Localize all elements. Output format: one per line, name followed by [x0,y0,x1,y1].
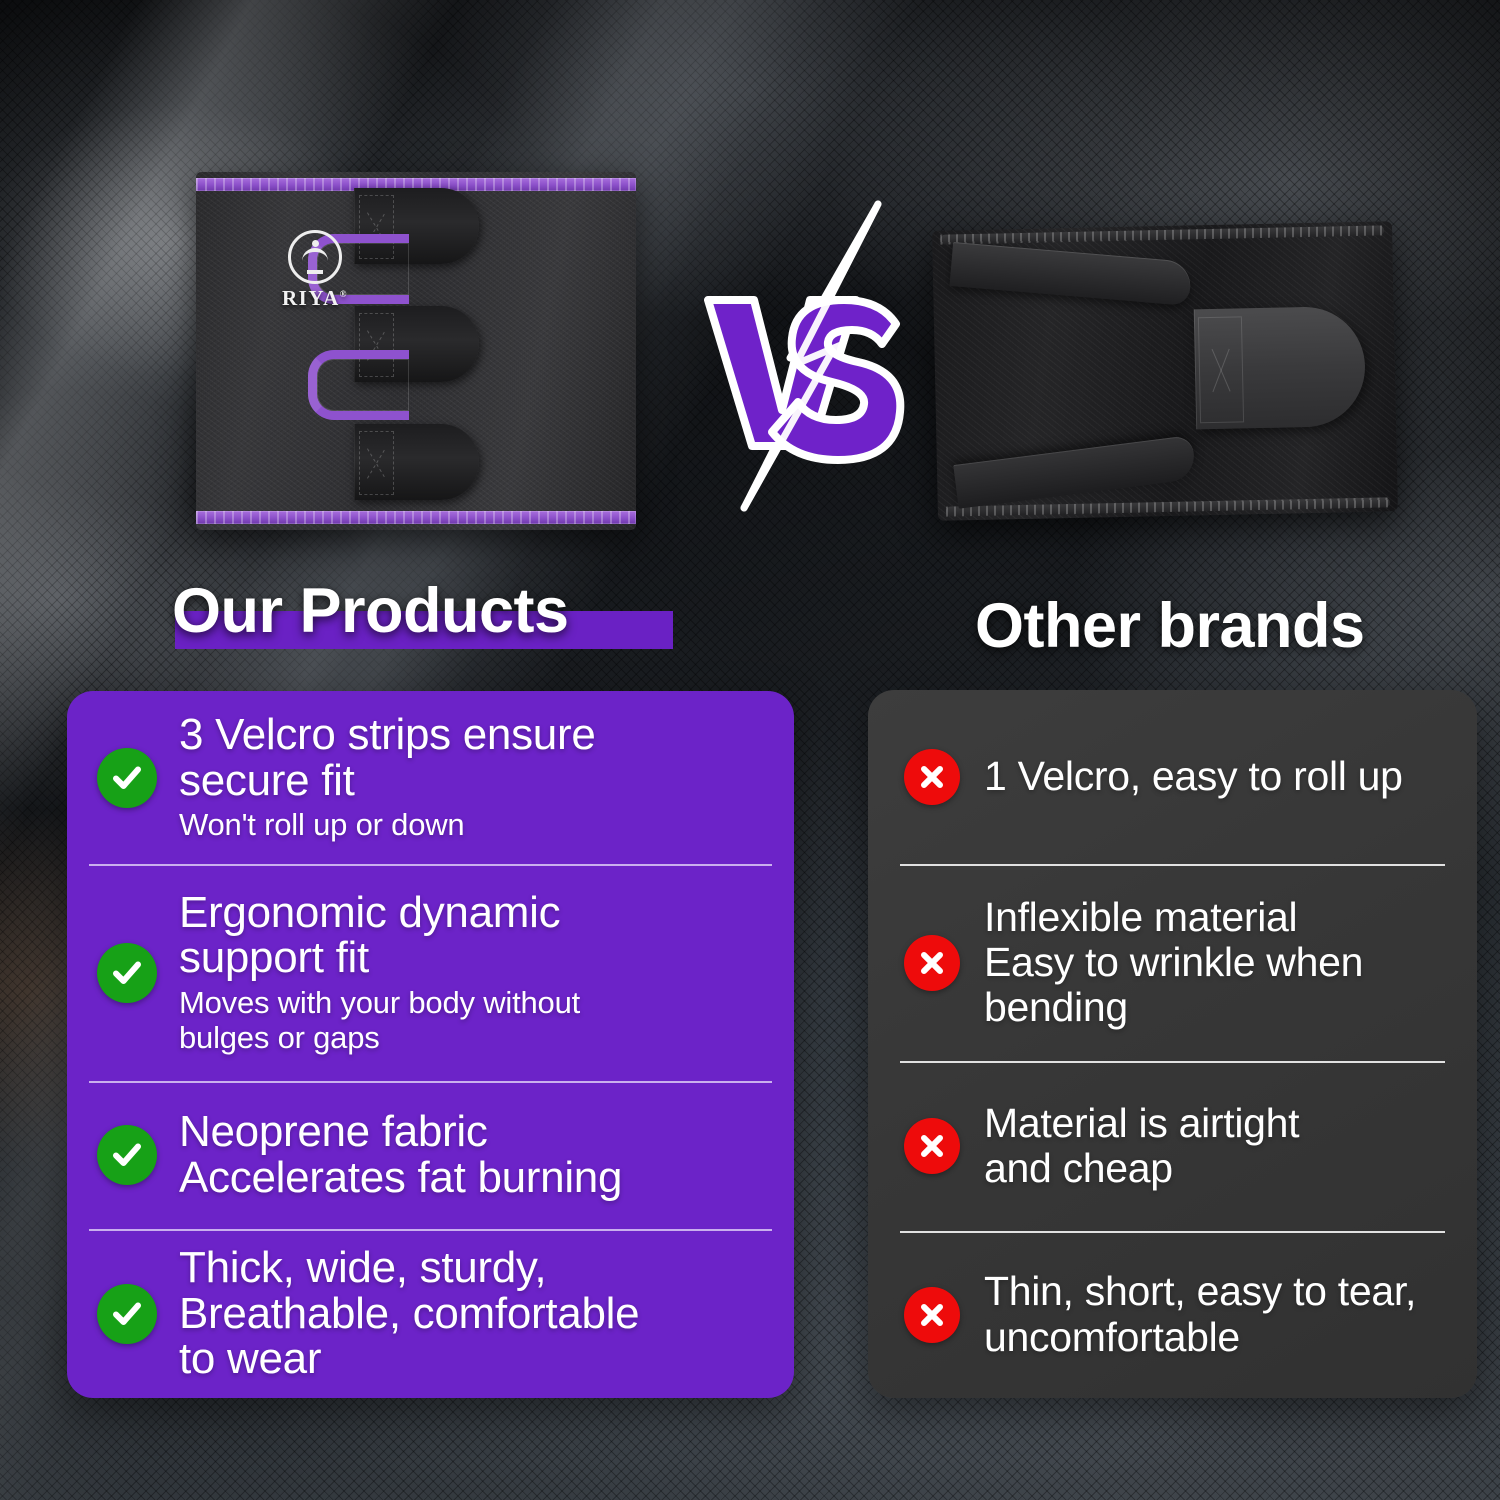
x-circle-icon [904,749,960,805]
list-item[interactable]: Thin, short, easy to tear, uncomfortable [868,1231,1477,1398]
x-circle-icon [904,935,960,991]
other-drawbacks-list: 1 Velcro, easy to roll up Inflexible mat… [868,690,1477,1398]
waist-trimmer-belt-ours: RIYA® [196,172,636,530]
vs-badge [700,196,920,516]
riya-bird-emblem-icon [288,230,342,284]
feature-title: Ergonomic dynamic support fit [179,890,580,982]
feature-title: 3 Velcro strips ensure secure fit [179,712,596,804]
drawback-title: Inflexible material Easy to wrinkle when… [984,895,1363,1030]
x-circle-icon [904,1118,960,1174]
list-item[interactable]: 1 Velcro, easy to roll up [868,690,1477,864]
drawback-title: 1 Velcro, easy to roll up [984,754,1403,799]
feature-title: Thick, wide, sturdy, Breathable, comfort… [179,1245,639,1382]
list-item[interactable]: Material is airtight and cheap [868,1061,1477,1231]
check-circle-icon [97,943,157,1003]
purple-loop-2 [308,350,409,420]
x-stitch-icon [359,431,394,495]
purple-trim-bottom [196,511,636,524]
our-products-card: 3 Velcro strips ensure secure fit Won't … [67,691,794,1398]
vs-letters [708,300,900,460]
other-brands-heading: Other brands [975,590,1365,662]
x-stitch-icon [1198,316,1244,423]
velcro-strap-3 [354,424,479,500]
check-circle-icon [97,1284,157,1344]
list-item[interactable]: Ergonomic dynamic support fit Moves with… [67,864,794,1081]
list-item[interactable]: Inflexible material Easy to wrinkle when… [868,864,1477,1061]
velcro-strap-single [1194,306,1366,430]
our-products-heading: Our Products [172,575,569,647]
check-circle-icon [97,1125,157,1185]
feature-subtitle: Won't roll up or down [179,808,596,843]
other-product-image [932,221,1398,521]
feature-title: Neoprene fabric Accelerates fat burning [179,1109,622,1201]
other-brands-card: 1 Velcro, easy to roll up Inflexible mat… [868,690,1477,1398]
feature-subtitle: Moves with your body without bulges or g… [179,986,580,1055]
riya-logo-text: RIYA [282,286,340,310]
drawback-title: Thin, short, easy to tear, uncomfortable [984,1269,1416,1359]
our-features-list: 3 Velcro strips ensure secure fit Won't … [67,691,794,1398]
x-circle-icon [904,1287,960,1343]
list-item[interactable]: Thick, wide, sturdy, Breathable, comfort… [67,1229,794,1398]
list-item[interactable]: 3 Velcro strips ensure secure fit Won't … [67,691,794,864]
check-circle-icon [97,748,157,808]
list-item[interactable]: Neoprene fabric Accelerates fat burning [67,1081,794,1229]
registered-mark: ® [340,289,348,299]
riya-brand-logo: RIYA® [276,230,354,311]
drawback-title: Material is airtight and cheap [984,1101,1299,1191]
comparison-infographic: RIYA® Our Products Other brand [0,0,1500,1500]
waist-trimmer-belt-other [932,221,1398,521]
our-product-image: RIYA® [196,172,636,530]
